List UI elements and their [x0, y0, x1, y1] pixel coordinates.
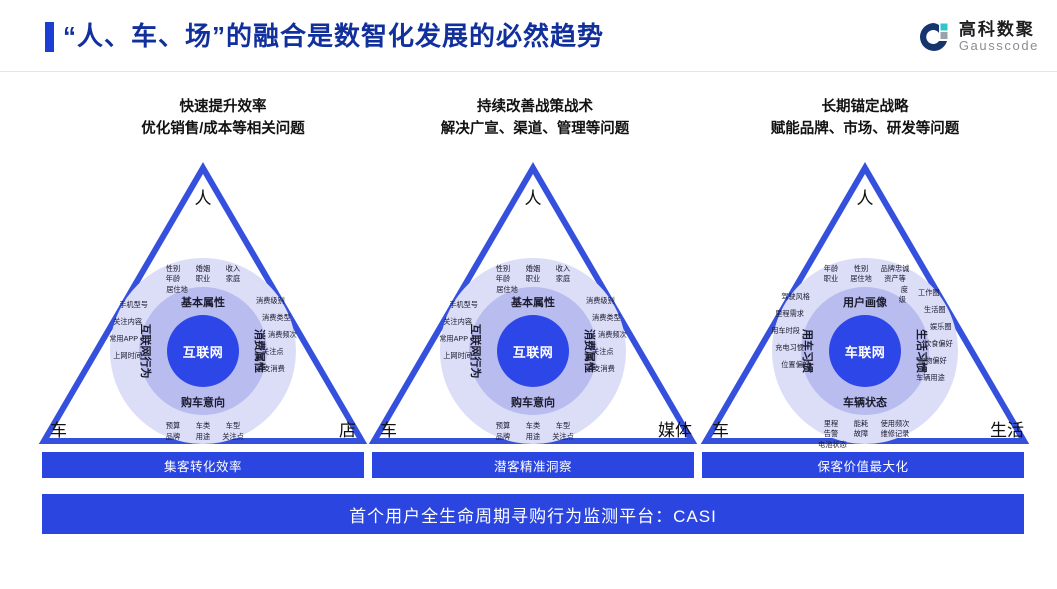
outer-row: 年龄职业家庭 — [488, 274, 578, 284]
outer-label: 职业 — [188, 274, 218, 284]
ring-outer-top-1: 性别婚姻收入 年龄职业家庭 居住地 — [158, 264, 248, 295]
outer-label: 年龄 — [158, 274, 188, 284]
title-accent-bar — [45, 22, 54, 52]
outer-label: 充电习惯 — [726, 343, 812, 353]
triangle-3-corner-bottom-left: 车 — [712, 416, 729, 441]
logo-mark-icon — [917, 20, 951, 54]
triangle-panel-3: 人 车 生活 互联网 车 车联网 用户画像 车辆状态 用车习惯 生活习惯 年龄性… — [700, 162, 1030, 447]
column-heading-1: 快速提升效率 优化销售/成本等相关问题 — [58, 96, 388, 141]
outer-label: 维修记录 — [876, 429, 914, 439]
ring-core-2: 互联网 — [497, 315, 569, 387]
outer-label: 关注点 — [584, 347, 676, 357]
outer-label: 常用APP — [394, 334, 480, 344]
outer-label: 性别 — [158, 264, 188, 274]
outer-label: 车类 — [188, 421, 218, 431]
ring-outer-left-3: 驾驶风格 里程需求 用车时段 充电习惯 位置偏好 — [726, 292, 812, 377]
outcome-bar-1: 集客转化效率 — [42, 452, 364, 478]
column-heading-1-line1: 快速提升效率 — [58, 96, 388, 118]
outer-label: 透支消费 — [584, 364, 676, 374]
outer-label: 职业 — [816, 274, 846, 284]
ring-outer-bottom-3: 里程能耗使用频次 告警故障维修记录 电池状态 — [816, 419, 914, 450]
triangle-1-corner-bottom-right: 店 — [339, 416, 356, 441]
ring-core-1: 互联网 — [167, 315, 239, 387]
outer-label: 上网时间 — [64, 351, 150, 361]
outer-row: 性别婚姻收入 — [488, 264, 578, 274]
column-heading-2-line2: 解决广宣、渠道、管理等问题 — [370, 118, 700, 140]
logo-name-cn: 高科数聚 — [959, 21, 1039, 39]
outer-row: 年龄性别品牌忠诚 — [816, 264, 914, 274]
outer-label: 收入 — [548, 264, 578, 274]
column-heading-3-line2: 赋能品牌、市场、研发等问题 — [690, 118, 1040, 140]
outer-label: 手机型号 — [394, 300, 480, 310]
outer-label: 婚姻 — [518, 264, 548, 274]
outer-row: 级 — [816, 295, 914, 305]
ring-mid-label-top-1: 基本属性 — [181, 294, 225, 310]
ring-diagram-1: 互联网 车 互联网 基本属性 购车意向 互联网行为 消费属性 性别婚姻收入 年龄… — [110, 258, 296, 444]
ring-core-label-3: 车联网 — [845, 342, 886, 361]
outer-row: 预算车类车型 — [488, 421, 578, 431]
ring-mid-label-bottom-3: 车辆状态 — [843, 394, 887, 410]
outer-label: 里程需求 — [726, 309, 812, 319]
outer-label: 用途 — [188, 432, 218, 442]
outer-row: 年龄职业家庭 — [158, 274, 248, 284]
ring-mid-label-bottom-1: 购车意向 — [181, 394, 225, 410]
outer-row: 度 — [816, 285, 914, 295]
outer-label: 消费频次 — [584, 330, 676, 340]
outer-label: 能耗 — [846, 419, 876, 429]
outer-label: 娱乐圈 — [916, 322, 1008, 332]
outer-label: 级 — [899, 295, 906, 305]
outer-label: 品牌 — [488, 432, 518, 442]
column-heading-2-line1: 持续改善战策战术 — [370, 96, 700, 118]
ring-outer-left-2: 手机型号 关注内容 常用APP 上网时间 — [394, 300, 480, 368]
outer-label: 透支消费 — [254, 364, 346, 374]
triangle-2-corner-bottom-right: 媒体 — [658, 416, 692, 441]
ring-diagram-3: 互联网 车 车联网 用户画像 车辆状态 用车习惯 生活习惯 年龄性别品牌忠诚 职… — [772, 258, 958, 444]
ring-outer-right-1: 消费级别 消费类型 消费频次 关注点 透支消费 — [254, 296, 346, 381]
outer-label: 关注内容 — [64, 317, 150, 327]
outer-label: 工作圈 — [916, 288, 1008, 298]
outer-label: 年龄 — [816, 264, 846, 274]
triangle-3-corner-bottom-right: 生活 — [990, 416, 1024, 441]
outer-row: 预算车类车型 — [158, 421, 248, 431]
slide-header: “人、车、场”的融合是数智化发展的必然趋势 高科数聚 Gausscode — [0, 0, 1057, 72]
triangle-2-corner-apex: 人 — [525, 184, 542, 209]
outer-label: 资产等 — [876, 274, 914, 284]
outer-label: 故障 — [846, 429, 876, 439]
logo-text: 高科数聚 Gausscode — [959, 21, 1039, 52]
outer-row: 居住地 — [488, 285, 578, 295]
column-heading-3: 长期锚定战略 赋能品牌、市场、研发等问题 — [690, 96, 1040, 141]
outer-label: 告警 — [816, 429, 846, 439]
brand-logo: 高科数聚 Gausscode — [917, 16, 1039, 58]
outer-label: 家庭 — [548, 274, 578, 284]
outer-label: 消费类型 — [584, 313, 676, 323]
outer-label: 消费类型 — [254, 313, 346, 323]
ring-outer-bottom-2: 预算车类车型 品牌用途关注点 — [488, 421, 578, 442]
outer-label: 家庭 — [218, 274, 248, 284]
outer-row: 职业居住地资产等 — [816, 274, 914, 284]
outer-label: 关注点 — [254, 347, 346, 357]
outer-label: 用车时段 — [726, 326, 812, 336]
outer-label: 消费级别 — [584, 296, 676, 306]
outer-row: 电池状态 — [816, 440, 914, 450]
outcome-bar-3: 保客价值最大化 — [702, 452, 1024, 478]
column-heading-1-line2: 优化销售/成本等相关问题 — [58, 118, 388, 140]
outcome-bar-2: 潜客精准洞察 — [372, 452, 694, 478]
slide-root: “人、车、场”的融合是数智化发展的必然趋势 高科数聚 Gausscode 快速提… — [0, 0, 1057, 589]
outer-label: 位置偏好 — [726, 360, 812, 370]
outer-label: 车型 — [218, 421, 248, 431]
outer-label: 关注内容 — [394, 317, 480, 327]
ring-core-label-1: 互联网 — [183, 342, 224, 361]
outer-label: 年龄 — [488, 274, 518, 284]
outer-label: 车辆用途 — [916, 373, 1008, 383]
outer-label: 车类 — [518, 421, 548, 431]
outer-row: 性别婚姻收入 — [158, 264, 248, 274]
outer-label: 生活圈 — [916, 305, 1008, 315]
outer-label: 里程 — [816, 419, 846, 429]
outer-label: 居住地 — [492, 285, 522, 295]
outer-label: 消费级别 — [254, 296, 346, 306]
outer-label: 消费频次 — [254, 330, 346, 340]
outer-label: 品牌忠诚 — [876, 264, 914, 274]
ring-core-label-2: 互联网 — [513, 342, 554, 361]
logo-name-en: Gausscode — [959, 39, 1039, 53]
outer-label: 购物偏好 — [916, 356, 1008, 366]
ring-outer-left-1: 手机型号 关注内容 常用APP 上网时间 — [64, 300, 150, 368]
outer-label: 手机型号 — [64, 300, 150, 310]
outer-label: 饮食偏好 — [916, 339, 1008, 349]
outer-label: 预算 — [488, 421, 518, 431]
outer-label: 婚姻 — [188, 264, 218, 274]
ring-outer-right-3: 工作圈 生活圈 娱乐圈 饮食偏好 购物偏好 车辆用途 — [916, 288, 1008, 390]
ring-outer-bottom-1: 预算车类车型 品牌用途关注点 — [158, 421, 248, 442]
outer-label: 常用APP — [64, 334, 150, 344]
outer-row: 品牌用途关注点 — [488, 432, 578, 442]
outer-label: 居住地 — [162, 285, 192, 295]
outer-label: 品牌 — [158, 432, 188, 442]
outer-label: 预算 — [158, 421, 188, 431]
outer-label: 性别 — [846, 264, 876, 274]
outer-label: 关注点 — [548, 432, 578, 442]
outer-label: 收入 — [218, 264, 248, 274]
ring-outer-right-2: 消费级别 消费类型 消费频次 关注点 透支消费 — [584, 296, 676, 381]
outer-label: 居住地 — [846, 274, 876, 284]
outer-row: 告警故障维修记录 — [816, 429, 914, 439]
column-heading-2: 持续改善战策战术 解决广宣、渠道、管理等问题 — [370, 96, 700, 141]
triangle-3-corner-apex: 人 — [857, 184, 874, 209]
outer-label: 职业 — [518, 274, 548, 284]
outer-label: 关注点 — [218, 432, 248, 442]
triangle-1-corner-apex: 人 — [195, 184, 212, 209]
triangle-panel-1: 人 车 店 互联网 车 互联网 基本属性 购车意向 互联网行为 消费属性 性别婚… — [38, 162, 368, 447]
platform-banner: 首个用户全生命周期寻购行为监测平台：CASI — [42, 494, 1024, 534]
outer-row: 品牌用途关注点 — [158, 432, 248, 442]
outer-label: 性别 — [488, 264, 518, 274]
outer-label: 用途 — [518, 432, 548, 442]
outer-label: 度 — [901, 285, 908, 295]
outer-label: 驾驶风格 — [726, 292, 812, 302]
outer-row: 里程能耗使用频次 — [816, 419, 914, 429]
ring-mid-label-bottom-2: 购车意向 — [511, 394, 555, 410]
ring-mid-label-top-2: 基本属性 — [511, 294, 555, 310]
ring-core-3: 车联网 — [829, 315, 901, 387]
triangle-panel-2: 人 车 媒体 互联网 车 互联网 基本属性 购车意向 互联网行为 消费属性 性别… — [368, 162, 698, 447]
column-headings: 快速提升效率 优化销售/成本等相关问题 持续改善战策战术 解决广宣、渠道、管理等… — [0, 96, 1057, 152]
page-title: “人、车、场”的融合是数智化发展的必然趋势 — [63, 16, 604, 53]
ring-outer-top-3: 年龄性别品牌忠诚 职业居住地资产等 度 级 — [816, 264, 914, 306]
outer-label: 使用频次 — [876, 419, 914, 429]
ring-outer-top-2: 性别婚姻收入 年龄职业家庭 居住地 — [488, 264, 578, 295]
header-divider — [0, 71, 1057, 72]
triangle-2-corner-bottom-left: 车 — [380, 416, 397, 441]
ring-diagram-2: 互联网 车 互联网 基本属性 购车意向 互联网行为 消费属性 性别婚姻收入 年龄… — [440, 258, 626, 444]
column-heading-3-line1: 长期锚定战略 — [690, 96, 1040, 118]
outer-row: 居住地 — [158, 285, 248, 295]
outer-label: 上网时间 — [394, 351, 480, 361]
outer-label: 车型 — [548, 421, 578, 431]
triangle-1-corner-bottom-left: 车 — [50, 416, 67, 441]
outer-label: 电池状态 — [818, 440, 847, 450]
